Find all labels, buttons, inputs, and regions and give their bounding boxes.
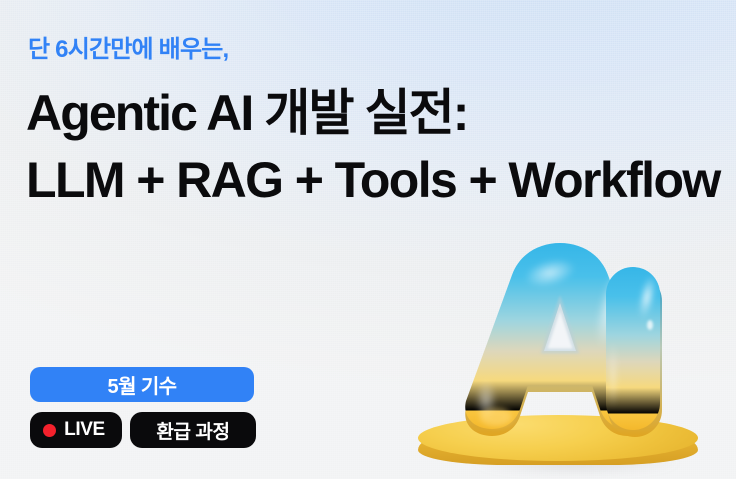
badge-row: LIVE 환급 과정: [30, 412, 256, 448]
badge-live-label: LIVE: [64, 419, 105, 441]
ai-3d-artwork: [400, 225, 720, 475]
badge-live[interactable]: LIVE: [30, 412, 122, 448]
course-promo-banner: 단 6시간만에 배우는, Agentic AI 개발 실전: LLM + RAG…: [0, 0, 736, 479]
badge-month[interactable]: 5월 기수: [30, 367, 254, 402]
ai-letters-icon: [400, 225, 720, 475]
live-dot-icon: [43, 424, 56, 437]
eyebrow-text: 단 6시간만에 배우는,: [28, 38, 228, 62]
badge-refund[interactable]: 환급 과정: [130, 412, 256, 448]
headline-line-1: Agentic AI 개발 실전:: [26, 88, 468, 138]
headline-line-2: LLM + RAG + Tools + Workflow: [26, 155, 720, 205]
letter-i-shape: [606, 267, 662, 437]
